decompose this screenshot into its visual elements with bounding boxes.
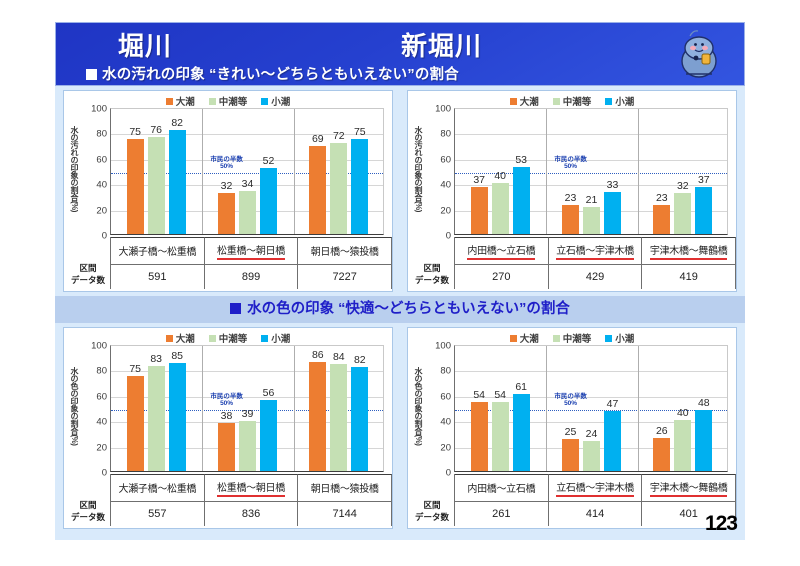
chart-legend: 大潮中潮等小潮 [64,331,392,345]
segment-count-cell: 591 [111,264,204,289]
segment-name-cell: 内田橋～立石橋 [455,475,548,501]
legend-label: 中潮等 [563,334,592,345]
segment-count-cell: 836 [205,501,298,526]
chart-legend: 大潮中潮等小潮 [64,94,392,108]
segment-count-cell: 429 [549,264,642,289]
table-cells: 内田橋～立石橋270立石橋～宇津木橋429宇津木橋～舞鶴橋419 [454,237,736,289]
table-header-segment: 区間 [79,263,96,274]
legend-item-大潮: 大潮 [166,331,195,345]
bar-group: 252447 [546,346,637,471]
bar-大潮: 75 [127,376,144,471]
legend-label: 中潮等 [219,334,248,345]
slide-canvas: 堀川 新堀川 水の汚れの印象 “きれい～どちらともいえない”の割合 水の色の印象… [55,22,745,540]
bar-大潮: 23 [653,205,670,234]
segment-name-text: 宇津木橋～舞鶴橋 [650,479,728,497]
bar-小潮: 85 [169,363,186,471]
table-cells: 大瀬子橋～松重橋591松重橋～朝日橋899朝日橋～猿投橋7227 [110,237,392,289]
bar-value-label: 76 [150,124,162,136]
bar-小潮: 48 [695,410,712,471]
table-row-headers: 区間データ数 [410,474,454,526]
segment-count-cell: 419 [642,264,735,289]
section-subtitle-dirt-text: 水の汚れの印象 “きれい～どちらともいえない”の割合 [102,67,459,83]
y-tick-label: 40 [96,180,107,191]
segment-name-text: 朝日橋～猿投橋 [311,480,379,496]
segment-count-cell: 899 [205,264,298,289]
bar-大潮: 23 [562,205,579,234]
plot-area: 020406080100市民の半数50%545461252447264048 [454,345,728,472]
table-header-count: データ数 [71,512,105,523]
segment-name-text: 松重橋～朝日橋 [217,242,285,260]
segment-name-text: 朝日橋～猿投橋 [311,243,379,259]
segment-name-text: 内田橋～立石橋 [467,242,535,260]
segment-data-table: 区間データ数大瀬子橋～松重橋591松重橋～朝日橋899朝日橋～猿投橋7227 [66,237,392,289]
bar-小潮: 33 [604,192,621,234]
segment-name-text: 大瀬子橋～松重橋 [119,243,197,259]
bar-value-label: 24 [586,428,598,440]
bar-中潮等: 40 [492,183,509,234]
table-cells: 大瀬子橋～松重橋557松重橋～朝日橋836朝日橋～猿投橋7144 [110,474,392,526]
segment-name-cell: 松重橋～朝日橋 [205,475,298,501]
bar-group: 545461 [455,346,546,471]
bar-value-label: 82 [171,117,183,129]
legend-item-大潮: 大潮 [510,331,539,345]
segment-name-cell: 大瀬子橋～松重橋 [111,475,204,501]
bar-value-label: 37 [698,174,710,186]
bar-group: 264048 [638,346,729,471]
y-axis-label: 水の汚れの印象の割合(%) [410,109,424,229]
bar-大潮: 38 [218,423,235,471]
legend-label: 小潮 [271,334,290,345]
table-column: 内田橋～立石橋261 [455,474,549,526]
segment-data-table: 区間データ数内田橋～立石橋270立石橋～宇津木橋429宇津木橋～舞鶴橋419 [410,237,736,289]
bar-中潮等: 40 [674,420,691,471]
legend-item-小潮: 小潮 [605,94,634,108]
segment-name-cell: 朝日橋～猿投橋 [298,475,391,501]
bar-中潮等: 34 [239,191,256,234]
bar-value-label: 32 [677,180,689,192]
bar-小潮: 82 [351,367,368,471]
slide-header: 堀川 新堀川 水の汚れの印象 “きれい～どちらともいえない”の割合 [55,22,745,86]
segment-count-cell: 261 [455,501,548,526]
y-axis-label: 水の色の印象の割合(%) [66,346,80,466]
bar-大潮: 37 [471,187,488,234]
bar-value-label: 85 [171,350,183,362]
y-tick-label: 100 [435,341,451,352]
legend-item-小潮: 小潮 [261,94,290,108]
legend-item-中潮等: 中潮等 [209,331,248,345]
bar-大潮: 69 [309,146,326,234]
legend-item-中潮等: 中潮等 [553,94,592,108]
y-tick-label: 20 [440,205,451,216]
bar-中潮等: 76 [148,137,165,234]
segment-name-text: 大瀬子橋～松重橋 [119,480,197,496]
bar-value-label: 37 [473,174,485,186]
legend-label: 小潮 [271,97,290,108]
bar-小潮: 75 [351,139,368,234]
y-tick-label: 80 [96,366,107,377]
segment-name-cell: 内田橋～立石橋 [455,238,548,264]
table-header-segment: 区間 [423,500,440,511]
bar-value-label: 75 [354,126,366,138]
legend-label: 小潮 [615,334,634,345]
legend-swatch-icon [510,335,517,342]
bar-value-label: 32 [221,180,233,192]
bar-value-label: 69 [312,133,324,145]
bar-value-label: 53 [515,154,527,166]
legend-swatch-icon [605,335,612,342]
legend-swatch-icon [166,98,173,105]
y-axis-label: 水の色の印象の割合(%) [410,346,424,466]
bar-value-label: 72 [333,130,345,142]
segment-count-cell: 7227 [298,264,391,289]
bar-大潮: 26 [653,438,670,471]
legend-item-大潮: 大潮 [166,94,195,108]
chart-legend: 大潮中潮等小潮 [408,94,736,108]
bar-value-label: 26 [656,425,668,437]
y-tick-label: 60 [440,391,451,402]
legend-swatch-icon [510,98,517,105]
chart-panel-top-right: 大潮中潮等小潮水の汚れの印象の割合(%)020406080100市民の半数50%… [407,90,737,292]
segment-count-cell: 7144 [298,501,391,526]
segment-name-cell: 朝日橋～猿投橋 [298,238,391,264]
legend-label: 大潮 [176,97,195,108]
plot-area: 020406080100市民の半数50%757682323452697275 [110,108,384,235]
legend-label: 中潮等 [563,97,592,108]
y-tick-label: 80 [440,366,451,377]
y-axis-label: 水の汚れの印象の割合(%) [66,109,80,229]
bar-中潮等: 83 [148,366,165,471]
bar-group: 383956 [202,346,293,471]
chart-panel-bottom-left: 大潮中潮等小潮水の色の印象の割合(%)020406080100市民の半数50%7… [63,327,393,529]
legend-swatch-icon [209,335,216,342]
legend-swatch-icon [553,98,560,105]
bar-小潮: 82 [169,130,186,234]
bar-小潮: 37 [695,187,712,234]
legend-swatch-icon [605,98,612,105]
bar-小潮: 56 [260,400,277,471]
segment-name-text: 宇津木橋～舞鶴橋 [650,242,728,260]
chart-panel-top-left: 大潮中潮等小潮水の汚れの印象の割合(%)020406080100市民の半数50%… [63,90,393,292]
bar-大潮: 32 [218,193,235,234]
bar-中潮等: 84 [330,364,347,471]
bar-中潮等: 39 [239,421,256,471]
bar-value-label: 25 [565,426,577,438]
segment-name-cell: 宇津木橋～舞鶴橋 [642,238,735,264]
bar-value-label: 34 [242,178,254,190]
bar-大潮: 54 [471,402,488,471]
segment-name-cell: 松重橋～朝日橋 [205,238,298,264]
bar-小潮: 53 [513,167,530,234]
table-header-segment: 区間 [423,263,440,274]
bar-value-label: 40 [677,407,689,419]
bar-group: 374053 [455,109,546,234]
table-header-count: データ数 [71,275,105,286]
table-header-count: データ数 [415,512,449,523]
bar-value-label: 83 [150,353,162,365]
bar-大潮: 86 [309,362,326,471]
bar-group: 758385 [111,346,202,471]
bar-group: 697275 [294,109,385,234]
bar-小潮: 61 [513,394,530,471]
segment-name-text: 立石橋～宇津木橋 [556,479,634,497]
bar-value-label: 56 [263,387,275,399]
legend-label: 大潮 [520,334,539,345]
legend-swatch-icon [261,98,268,105]
y-tick-label: 20 [440,442,451,453]
table-header-count: データ数 [415,275,449,286]
bar-group: 233237 [638,109,729,234]
segment-count-cell: 557 [111,501,204,526]
chart-panel-bottom-right: 大潮中潮等小潮水の色の印象の割合(%)020406080100市民の半数50%5… [407,327,737,529]
bullet-square-icon [230,303,241,314]
y-tick-label: 40 [440,417,451,428]
legend-item-大潮: 大潮 [510,94,539,108]
bar-中潮等: 24 [583,441,600,471]
legend-item-小潮: 小潮 [605,331,634,345]
legend-item-中潮等: 中潮等 [209,94,248,108]
legend-swatch-icon [166,335,173,342]
y-tick-label: 20 [96,442,107,453]
table-column: 大瀬子橋～松重橋557 [111,474,205,526]
bar-value-label: 86 [312,349,324,361]
y-tick-label: 20 [96,205,107,216]
bar-value-label: 40 [494,170,506,182]
table-cells: 内田橋～立石橋261立石橋～宇津木橋414宇津木橋～舞鶴橋401 [454,474,736,526]
table-column: 宇津木橋～舞鶴橋419 [642,237,736,289]
bar-value-label: 61 [515,381,527,393]
bar-value-label: 54 [473,389,485,401]
page-number: 123 [705,512,737,536]
y-tick-label: 80 [96,129,107,140]
table-row-headers: 区間データ数 [410,237,454,289]
y-tick-label: 100 [91,341,107,352]
table-column: 立石橋～宇津木橋414 [549,474,643,526]
legend-label: 大潮 [520,97,539,108]
bar-group: 232133 [546,109,637,234]
bar-value-label: 21 [586,194,598,206]
segment-data-table: 区間データ数大瀬子橋～松重橋557松重橋～朝日橋836朝日橋～猿投橋7144 [66,474,392,526]
bar-中潮等: 32 [674,193,691,234]
bar-value-label: 33 [607,179,619,191]
table-column: 内田橋～立石橋270 [455,237,549,289]
segment-name-cell: 立石橋～宇津木橋 [549,475,642,501]
bar-value-label: 48 [698,397,710,409]
bar-value-label: 38 [221,410,233,422]
table-column: 大瀬子橋～松重橋591 [111,237,205,289]
section-subtitle-color-text: 水の色の印象 “快適～どちらともいえない”の割合 [247,301,570,317]
legend-label: 中潮等 [219,97,248,108]
segment-name-text: 立石橋～宇津木橋 [556,242,634,260]
table-column: 松重橋～朝日橋836 [205,474,299,526]
table-header-segment: 区間 [79,500,96,511]
legend-label: 小潮 [615,97,634,108]
bullet-square-icon [86,69,97,80]
legend-swatch-icon [261,335,268,342]
bar-小潮: 47 [604,411,621,471]
river-title-right: 新堀川 [401,26,482,63]
table-column: 朝日橋～猿投橋7227 [298,237,392,289]
segment-name-text: 内田橋～立石橋 [467,480,535,496]
bar-value-label: 39 [242,408,254,420]
y-tick-label: 100 [91,104,107,115]
bar-value-label: 75 [129,363,141,375]
legend-swatch-icon [209,98,216,105]
bar-大潮: 75 [127,139,144,234]
river-title-left: 堀川 [118,26,172,63]
segment-name-cell: 立石橋～宇津木橋 [549,238,642,264]
bar-中潮等: 54 [492,402,509,471]
bar-中潮等: 21 [583,207,600,234]
table-column: 朝日橋～猿投橋7144 [298,474,392,526]
segment-name-text: 松重橋～朝日橋 [217,479,285,497]
y-tick-label: 60 [440,154,451,165]
bar-value-label: 84 [333,351,345,363]
legend-label: 大潮 [176,334,195,345]
y-tick-label: 60 [96,391,107,402]
segment-name-cell: 宇津木橋～舞鶴橋 [642,475,735,501]
section-subtitle-dirt: 水の汚れの印象 “きれい～どちらともいえない”の割合 [86,63,459,84]
hori-mascot-icon [672,28,726,82]
bar-group: 323452 [202,109,293,234]
y-tick-label: 100 [435,104,451,115]
bar-value-label: 23 [656,192,668,204]
y-tick-label: 80 [440,129,451,140]
legend-item-中潮等: 中潮等 [553,331,592,345]
bar-value-label: 23 [565,192,577,204]
bar-group: 868482 [294,346,385,471]
section-subtitle-color: 水の色の印象 “快適～どちらともいえない”の割合 [55,296,745,323]
y-tick-label: 40 [96,417,107,428]
bar-value-label: 82 [354,354,366,366]
chart-legend: 大潮中潮等小潮 [408,331,736,345]
segment-count-cell: 414 [549,501,642,526]
table-column: 松重橋～朝日橋899 [205,237,299,289]
bar-value-label: 52 [263,155,275,167]
table-column: 立石橋～宇津木橋429 [549,237,643,289]
bar-group: 757682 [111,109,202,234]
plot-area: 020406080100市民の半数50%374053232133233237 [454,108,728,235]
segment-name-cell: 大瀬子橋～松重橋 [111,238,204,264]
table-row-headers: 区間データ数 [66,237,110,289]
y-tick-label: 60 [96,154,107,165]
table-row-headers: 区間データ数 [66,474,110,526]
plot-area: 020406080100市民の半数50%758385383956868482 [110,345,384,472]
y-tick-label: 40 [440,180,451,191]
legend-swatch-icon [553,335,560,342]
bar-大潮: 25 [562,439,579,471]
bar-value-label: 75 [129,126,141,138]
segment-count-cell: 270 [455,264,548,289]
bar-小潮: 52 [260,168,277,234]
segment-data-table: 区間データ数内田橋～立石橋261立石橋～宇津木橋414宇津木橋～舞鶴橋401 [410,474,736,526]
legend-item-小潮: 小潮 [261,331,290,345]
bar-value-label: 54 [494,389,506,401]
bar-value-label: 47 [607,398,619,410]
bar-中潮等: 72 [330,143,347,234]
